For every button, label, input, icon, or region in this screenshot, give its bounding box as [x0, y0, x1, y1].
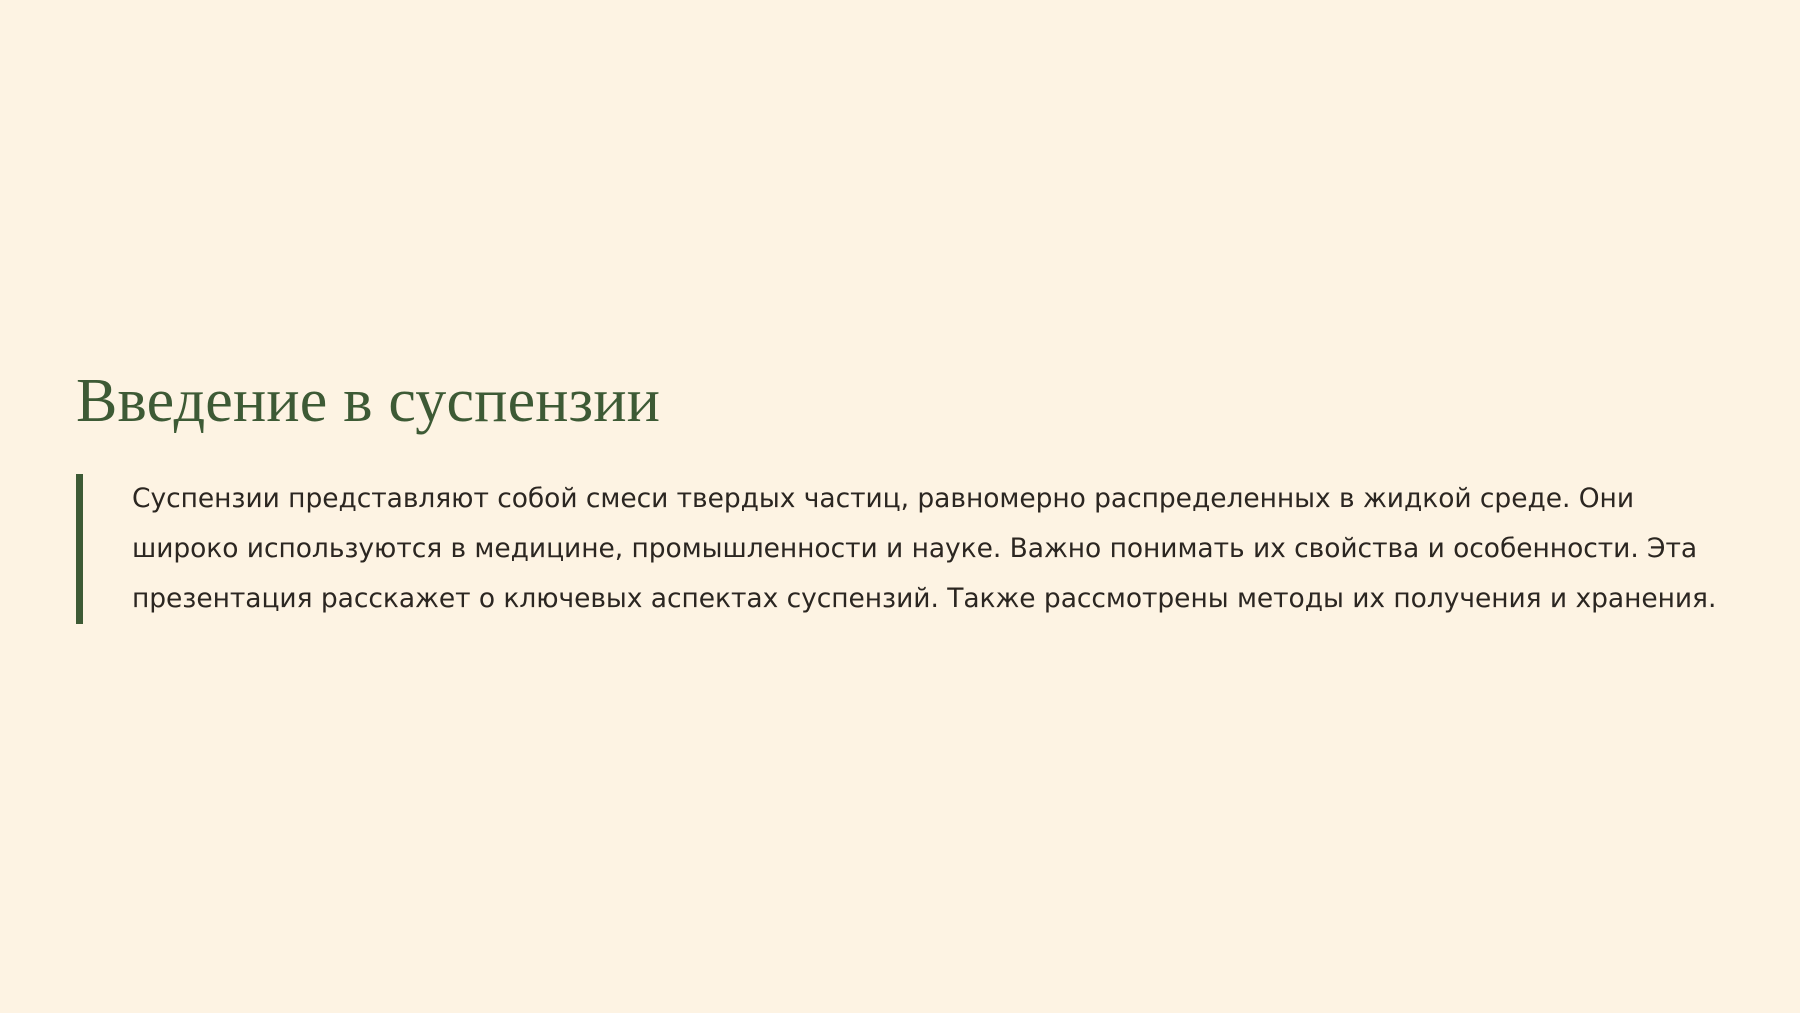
page-title: Введение в суспензии	[76, 370, 1724, 432]
accent-bar	[76, 474, 83, 624]
slide-content: Введение в суспензии Суспензии представл…	[76, 370, 1724, 624]
body-quote-block: Суспензии представляют собой смеси тверд…	[76, 474, 1724, 624]
slide-canvas: Введение в суспензии Суспензии представл…	[0, 0, 1800, 1013]
body-paragraph: Суспензии представляют собой смеси тверд…	[132, 474, 1724, 624]
